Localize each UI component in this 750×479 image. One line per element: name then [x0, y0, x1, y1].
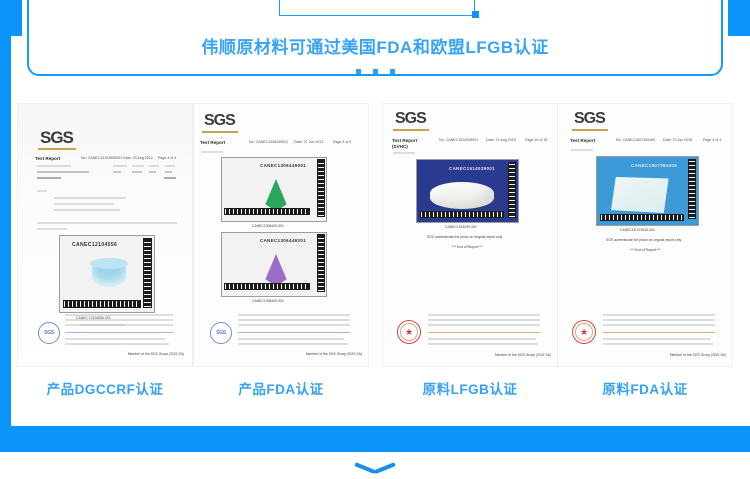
sample-photo: CANEC1807384405 [596, 156, 699, 226]
dot-1 [356, 69, 361, 74]
address-line [603, 338, 711, 340]
certificate-card-dgccrf[interactable]: SGS Test Report No. CANEC12104556001 Dat… [18, 104, 192, 366]
doc-subtitle: (SVHC) [392, 144, 408, 149]
purple-cone-sample [262, 254, 290, 284]
seal-ring [400, 323, 418, 341]
ruler-vertical [508, 162, 516, 218]
table-line [149, 171, 156, 173]
bottom-blue-bar [0, 426, 750, 452]
left-accent-rail [0, 0, 11, 440]
doc-title: Test Report [392, 138, 417, 143]
ruler-horizontal [224, 208, 310, 215]
certificate-label-fda-product: 产品FDA认证 [194, 378, 368, 398]
red-star-seal-icon: ★ [572, 320, 596, 344]
letterhead-line [428, 314, 540, 316]
sgs-logo: SGS [40, 128, 73, 148]
address-line [65, 338, 165, 340]
sgs-seal-icon: SGS [210, 322, 232, 344]
certificate-label-dgccrf: 产品DGCCRF认证 [18, 378, 192, 398]
sample-caption-line [571, 149, 593, 151]
certificate-page: SGS Test Report No. CANEC1807300450 Date… [558, 104, 732, 366]
doc-no: No. CANEC1807300450 [616, 138, 655, 142]
chevron-down-icon[interactable] [355, 462, 395, 478]
notes-heading-line [37, 190, 47, 192]
banner-dots [0, 61, 750, 79]
sgs-underline [202, 131, 238, 133]
sgs-underline [393, 129, 429, 131]
letterhead-line [238, 314, 350, 316]
footer-rule [428, 332, 540, 333]
chevron-stroke-left [354, 462, 376, 473]
dot-3 [390, 69, 395, 74]
footer-note: Member of the SGS Group (SGS SA) [670, 353, 726, 357]
letterhead-line [65, 314, 173, 316]
blue-bowl-rim [90, 258, 128, 269]
sample-caption-line [37, 228, 67, 230]
banner-edge-block-right [728, 0, 750, 36]
letterhead-line [603, 319, 715, 321]
green-cone-sample [262, 179, 290, 209]
ruler-horizontal [600, 214, 684, 221]
sgs-logo: SGS [204, 112, 235, 130]
letterhead-line [238, 324, 350, 326]
footer-note: Member of the SGS Group (SGS SA) [306, 352, 362, 356]
certificate-page: SGS Test Report (SVHC) No. CANEC15140390… [383, 104, 557, 366]
footer-note: Member of the SGS Group (SGS SA) [495, 353, 551, 357]
address-line [65, 343, 169, 345]
certificate-footer: SGS Member of the SGS Group (SGS SA) [18, 308, 192, 366]
photo-caption: CANEC18-073040-001 [620, 228, 655, 232]
footer-rule [603, 332, 715, 333]
sample-code: CANEC1807384405 [631, 163, 677, 168]
sample-code: CANEC1306449201 [260, 238, 306, 243]
ruler-vertical [317, 234, 325, 292]
letterhead-line [238, 319, 350, 321]
sample-photo: CANEC1514039001 [416, 159, 519, 223]
certificate-card-fda-product[interactable]: SGS Test Report No. CANEC1306449001 Date… [194, 104, 368, 366]
letterhead-line [65, 324, 173, 326]
certificate-grid: SGS Test Report No. CANEC12104556001 Dat… [0, 104, 750, 404]
certificate-page: SGS Test Report No. CANEC1306449001 Date… [194, 104, 368, 366]
sample-photo-2: CANEC1306449201 [221, 232, 327, 297]
sample-photo-1: CANEC1306449001 [221, 157, 327, 222]
doc-page: Page 4 of 4 [703, 138, 721, 142]
doc-page: Page 16 of 16 [525, 138, 547, 142]
footer-rule [65, 332, 173, 333]
address-line [428, 338, 536, 340]
ruler-horizontal [63, 300, 141, 308]
table-line [165, 171, 172, 173]
certificate-page: SGS Test Report No. CANEC12104556001 Dat… [18, 104, 192, 366]
doc-page: Page 4 of 4 [158, 156, 176, 160]
table-line [164, 177, 176, 179]
certificate-footer: ★ Member of the SGS Group (SGS SA) [383, 308, 557, 366]
letterhead-line [65, 319, 173, 321]
red-star-seal-icon: ★ [397, 320, 421, 344]
note-line [54, 203, 114, 205]
ruler-vertical [317, 159, 325, 217]
table-line [113, 171, 121, 173]
remark-line [37, 222, 177, 224]
title-corner-marker [472, 11, 479, 18]
photo-caption: CANEC1306449-001 [252, 224, 284, 228]
ruler-horizontal [224, 283, 310, 290]
table-line [132, 165, 144, 167]
sgs-logo: SGS [574, 110, 605, 128]
doc-date: Date: 27 Apr 2018 [663, 138, 692, 142]
doc-page: Page 4 of 5 [333, 140, 351, 144]
address-line [603, 343, 713, 345]
doc-no: No. CANEC1514039001 [439, 138, 478, 142]
end-note: *** End of Report *** [630, 248, 661, 252]
end-note: *** End of Report *** [452, 245, 483, 249]
ruler-vertical [688, 159, 696, 219]
letterhead-line [428, 319, 540, 321]
white-soap-sample [430, 182, 494, 209]
sgs-logo: SGS [395, 110, 426, 128]
sample-code: CANEC1514039001 [449, 166, 495, 171]
sgs-underline [572, 129, 608, 131]
white-sheet-sample [611, 177, 671, 213]
sample-caption-line [393, 152, 415, 154]
sample-code: CANEC12104556 [72, 242, 117, 248]
doc-date: Date: 23 Aug 2012 [123, 156, 153, 160]
address-line [238, 338, 344, 340]
ruler-vertical [143, 238, 152, 308]
certificate-card-fda-material[interactable]: SGS Test Report No. CANEC1807300450 Date… [558, 104, 732, 366]
certificate-footer: SGS Member of the SGS Group (SGS SA) [194, 308, 368, 366]
doc-no: No. CANEC12104556001 [81, 156, 122, 160]
authenticity-note: SGS authenticate the photo on original r… [427, 235, 502, 239]
doc-title: Test Report [200, 140, 225, 145]
doc-title: Test Report [35, 156, 60, 161]
photo-caption: CANEC1514039-001 [445, 225, 477, 229]
ruler-horizontal [420, 211, 504, 218]
footer-note: Member of the SGS Group (SGS SA) [128, 352, 184, 356]
table-line [149, 165, 159, 167]
footer-rule [238, 332, 350, 333]
banner-title-box: 权威认证资质 [279, 0, 475, 16]
chevron-stroke-right [374, 462, 396, 473]
address-line [238, 343, 348, 345]
table-line [165, 165, 175, 167]
note-line [54, 197, 126, 199]
dot-2 [373, 69, 378, 74]
table-line [113, 165, 127, 167]
table-line [37, 177, 61, 179]
certificate-card-lfgb-material[interactable]: SGS Test Report (SVHC) No. CANEC15140390… [383, 104, 557, 366]
sgs-underline [38, 148, 76, 150]
doc-date: Date: 21 Aug 2015 [486, 138, 516, 142]
letterhead-line [603, 324, 715, 326]
address-line [428, 343, 538, 345]
seal-ring [575, 323, 593, 341]
doc-date: Date: 27 Jun 2013 [294, 140, 323, 144]
photo-caption: CANEC1306449-002 [252, 299, 284, 303]
table-line [132, 171, 142, 173]
banner-subtitle: 伟顺原材料可通过美国FDA和欧盟LFGB认证 [0, 33, 750, 58]
sample-code: CANEC1306449001 [260, 163, 306, 168]
sample-photo: CANEC12104556 [59, 235, 155, 313]
sgs-seal-icon: SGS [38, 322, 60, 344]
table-line [37, 165, 71, 167]
letterhead-line [603, 314, 715, 316]
note-line [54, 209, 120, 211]
doc-title: Test Report [570, 138, 595, 143]
certificate-footer: ★ Member of the SGS Group (SGS SA) [558, 308, 732, 366]
authenticity-note: SGS authenticate the photo on original r… [606, 238, 681, 242]
certificate-label-fda-material: 原料FDA认证 [558, 378, 732, 398]
certificate-label-lfgb-material: 原料LFGB认证 [383, 378, 557, 398]
doc-no: No. CANEC1306449001 [249, 140, 288, 144]
letterhead-line [428, 324, 540, 326]
sample-caption-line [201, 151, 223, 153]
page-root: 权威认证资质 伟顺原材料可通过美国FDA和欧盟LFGB认证 SGS Test R… [0, 0, 750, 479]
table-line [37, 171, 89, 173]
